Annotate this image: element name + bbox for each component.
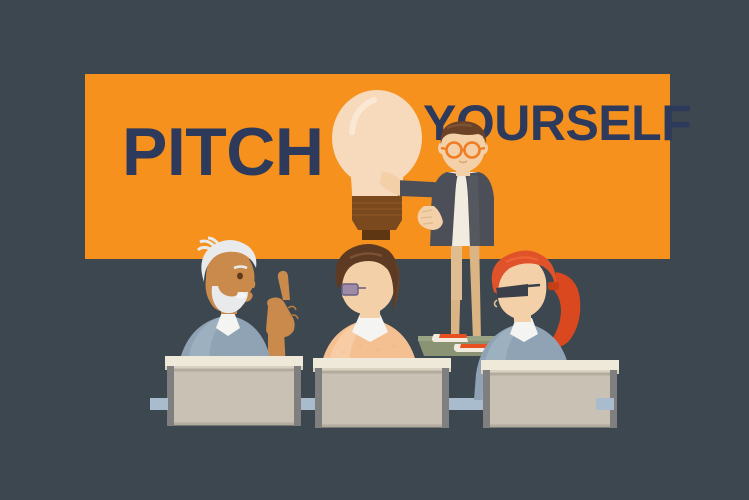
illustration-canvas: PITCH YOURSELF	[0, 0, 749, 500]
desk-right	[481, 360, 619, 428]
bulb-base-tip	[362, 230, 390, 240]
desk-center	[313, 358, 451, 428]
headline-pitch: PITCH	[122, 114, 324, 190]
pitch-yourself-illustration: PITCH YOURSELF	[0, 0, 749, 500]
desk-left	[165, 356, 303, 426]
bulb-base-taper	[352, 220, 402, 230]
